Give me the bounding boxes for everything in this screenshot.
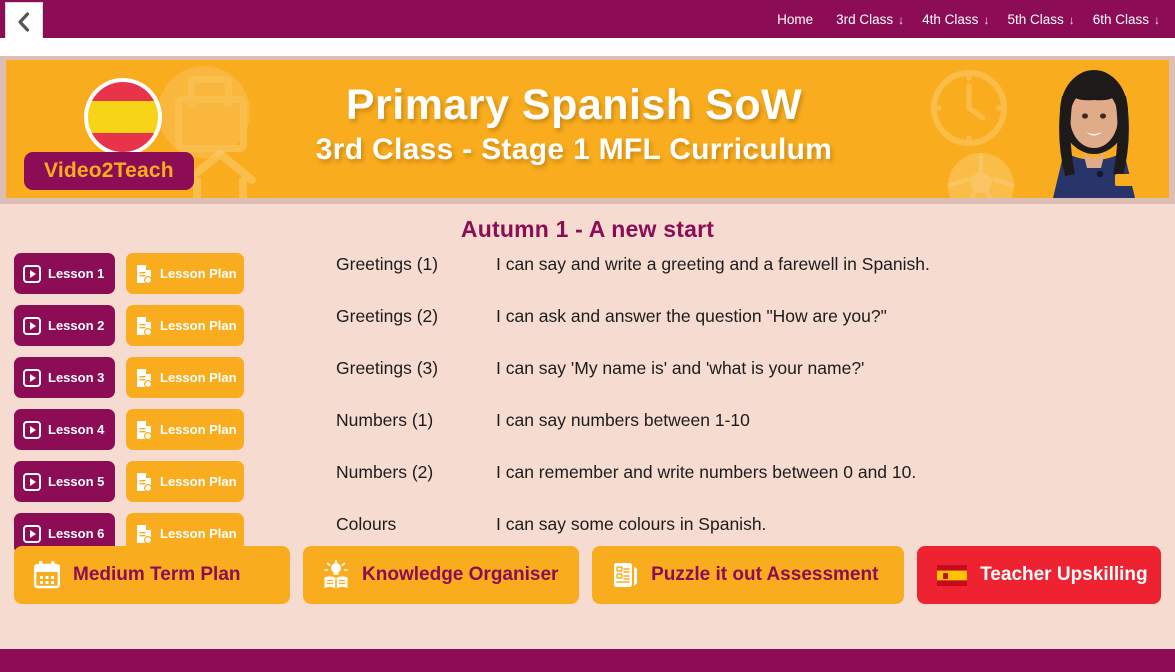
lesson-button-label: Lesson 1 xyxy=(48,266,104,281)
document-icon xyxy=(135,368,153,388)
lesson-objective-row: Numbers (1) I can say numbers between 1-… xyxy=(336,410,1175,462)
resource-button-label: Puzzle it out Assessment xyxy=(651,564,878,586)
play-video-icon xyxy=(23,473,41,491)
lesson-2-plan-button[interactable]: Lesson Plan xyxy=(126,305,244,346)
document-icon xyxy=(135,316,153,336)
play-video-icon xyxy=(23,421,41,439)
dropdown-arrow-icon: ↓ xyxy=(1154,13,1160,27)
lesson-1-button[interactable]: Lesson 1 xyxy=(14,253,115,294)
nav-link-3rd-class[interactable]: 3rd Class ↓ xyxy=(827,12,913,27)
back-button[interactable] xyxy=(5,2,43,42)
page-footer xyxy=(0,649,1175,672)
lesson-objective: I can say 'My name is' and 'what is your… xyxy=(496,358,1175,379)
lesson-5-button[interactable]: Lesson 5 xyxy=(14,461,115,502)
lesson-objective: I can remember and write numbers between… xyxy=(496,462,1175,483)
lesson-buttons-column: Lesson 1 Lesson Plan Lesson 2 xyxy=(0,253,320,566)
main-content: Autumn 1 - A new start Lesson 1 Lesson P… xyxy=(0,204,1175,649)
dropdown-arrow-icon: ↓ xyxy=(1069,13,1075,27)
lesson-4-button[interactable]: Lesson 4 xyxy=(14,409,115,450)
lesson-topic: Greetings (1) xyxy=(336,254,496,275)
calendar-icon xyxy=(34,561,60,589)
lesson-button-label: Lesson 4 xyxy=(48,422,104,437)
lesson-row: Lesson 2 Lesson Plan xyxy=(14,305,320,346)
lesson-3-plan-button[interactable]: Lesson Plan xyxy=(126,357,244,398)
lesson-topic: Numbers (1) xyxy=(336,410,496,431)
medium-term-plan-button[interactable]: Medium Term Plan xyxy=(14,546,290,604)
page-title: Autumn 1 - A new start xyxy=(0,204,1175,243)
lesson-row: Lesson 5 Lesson Plan xyxy=(14,461,320,502)
plan-button-label: Lesson Plan xyxy=(160,266,237,281)
puzzle-it-out-assessment-button[interactable]: Puzzle it out Assessment xyxy=(592,546,904,604)
lesson-1-plan-button[interactable]: Lesson Plan xyxy=(126,253,244,294)
nav-link-6th-class[interactable]: 6th Class ↓ xyxy=(1084,12,1169,27)
course-banner: Video2Teach Primary Spanish SoW 3rd Clas… xyxy=(6,60,1169,198)
lesson-row: Lesson 4 Lesson Plan xyxy=(14,409,320,450)
lesson-objective: I can say and write a greeting and a far… xyxy=(496,254,1175,275)
lesson-objective-row: Numbers (2) I can remember and write num… xyxy=(336,462,1175,514)
nav-link-5th-class[interactable]: 5th Class ↓ xyxy=(998,12,1083,27)
lesson-button-label: Lesson 5 xyxy=(48,474,104,489)
play-video-icon xyxy=(23,317,41,335)
resource-button-label: Medium Term Plan xyxy=(73,564,241,586)
document-icon xyxy=(135,420,153,440)
lesson-3-button[interactable]: Lesson 3 xyxy=(14,357,115,398)
lesson-objective-row: Greetings (3) I can say 'My name is' and… xyxy=(336,358,1175,410)
clipboard-checklist-icon xyxy=(612,561,638,589)
lesson-topic: Colours xyxy=(336,514,496,535)
nav-link-4th-class[interactable]: 4th Class ↓ xyxy=(913,12,998,27)
lesson-button-label: Lesson 2 xyxy=(48,318,104,333)
nav-link-label: Home xyxy=(777,12,813,27)
lesson-row: Lesson 3 Lesson Plan xyxy=(14,357,320,398)
chevron-left-icon xyxy=(14,11,34,33)
document-icon xyxy=(135,524,153,544)
play-video-icon xyxy=(23,525,41,543)
lesson-objective: I can say some colours in Spanish. xyxy=(496,514,1175,535)
nav-link-label: 4th Class xyxy=(922,12,978,27)
lesson-4-plan-button[interactable]: Lesson Plan xyxy=(126,409,244,450)
resource-button-label: Teacher Upskilling xyxy=(980,564,1148,586)
lessons-section: Lesson 1 Lesson Plan Lesson 2 xyxy=(0,253,1175,566)
lesson-topic: Greetings (2) xyxy=(336,306,496,327)
banner-title-line1: Primary Spanish SoW xyxy=(224,80,924,130)
plan-button-label: Lesson Plan xyxy=(160,422,237,437)
lesson-objective-row: Greetings (2) I can ask and answer the q… xyxy=(336,306,1175,358)
play-video-icon xyxy=(23,369,41,387)
nav-link-home[interactable]: Home xyxy=(768,12,827,27)
lesson-2-button[interactable]: Lesson 2 xyxy=(14,305,115,346)
nav-link-label: 5th Class xyxy=(1007,12,1063,27)
lesson-topic: Greetings (3) xyxy=(336,358,496,379)
lightbulb-book-icon xyxy=(323,560,349,590)
nav-link-label: 6th Class xyxy=(1093,12,1149,27)
teacher-upskilling-button[interactable]: Teacher Upskilling xyxy=(917,546,1161,604)
lesson-button-label: Lesson 3 xyxy=(48,370,104,385)
knowledge-organiser-button[interactable]: Knowledge Organiser xyxy=(303,546,579,604)
plan-button-label: Lesson Plan xyxy=(160,526,237,541)
document-icon xyxy=(135,264,153,284)
banner-title-line2: 3rd Class - Stage 1 MFL Curriculum xyxy=(224,130,924,170)
dropdown-arrow-icon: ↓ xyxy=(983,13,989,27)
resource-button-label: Knowledge Organiser xyxy=(362,564,558,586)
nav-spacer xyxy=(0,38,1175,56)
spain-flag-icon xyxy=(84,78,162,156)
lesson-5-plan-button[interactable]: Lesson Plan xyxy=(126,461,244,502)
lesson-objective: I can say numbers between 1-10 xyxy=(496,410,1175,431)
lesson-button-label: Lesson 6 xyxy=(48,526,104,541)
document-icon xyxy=(135,472,153,492)
dropdown-arrow-icon: ↓ xyxy=(898,13,904,27)
lesson-objective: I can ask and answer the question "How a… xyxy=(496,306,1175,327)
top-navigation-bar: Home 3rd Class ↓ 4th Class ↓ 5th Class ↓… xyxy=(0,0,1175,38)
banner-frame: Video2Teach Primary Spanish SoW 3rd Clas… xyxy=(0,56,1175,204)
banner-title: Primary Spanish SoW 3rd Class - Stage 1 … xyxy=(224,80,924,170)
lesson-row: Lesson 1 Lesson Plan xyxy=(14,253,320,294)
lesson-objectives-column: Greetings (1) I can say and write a gree… xyxy=(320,253,1175,566)
nav-link-label: 3rd Class xyxy=(836,12,893,27)
teacher-portrait-photo xyxy=(1031,60,1157,198)
football-icon xyxy=(943,148,1019,198)
brand-logo-badge[interactable]: Video2Teach xyxy=(24,152,194,190)
clock-icon xyxy=(927,66,1011,150)
plan-button-label: Lesson Plan xyxy=(160,370,237,385)
nav-links: Home 3rd Class ↓ 4th Class ↓ 5th Class ↓… xyxy=(768,12,1169,27)
spain-flag-icon xyxy=(937,565,967,586)
lesson-objective-row: Greetings (1) I can say and write a gree… xyxy=(336,254,1175,306)
plan-button-label: Lesson Plan xyxy=(160,474,237,489)
lesson-topic: Numbers (2) xyxy=(336,462,496,483)
plan-button-label: Lesson Plan xyxy=(160,318,237,333)
play-video-icon xyxy=(23,265,41,283)
resource-buttons-bar: Medium Term Plan Knowledge Organiser xyxy=(0,546,1175,604)
